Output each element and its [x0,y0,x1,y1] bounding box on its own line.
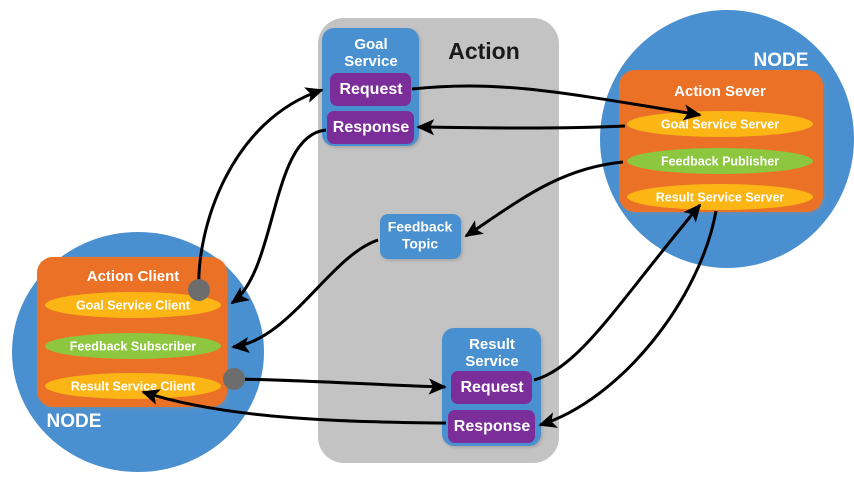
goal-response-label: Response [333,119,410,136]
client-node: Action Client Goal Service Client Feedba… [12,232,264,472]
action-container-label: Action [448,38,520,64]
client-node-label: NODE [47,411,102,432]
feedback-publisher-label: Feedback Publisher [661,154,779,168]
feedback-topic-box[interactable]: Feedback Topic [380,214,461,259]
goal-service-client-label: Goal Service Client [76,298,191,312]
result-service-server-label: Result Service Server [656,190,785,204]
ros2-action-diagram: Action Action Client Goal Service Client… [0,0,854,480]
action-server-title: Action Sever [674,83,766,100]
server-node: NODE Action Sever Goal Service Server Fe… [600,10,854,268]
result-request-label: Request [460,379,524,396]
result-service-title-line1: Result [469,336,515,353]
arrow-goal-response-from-server [418,126,625,128]
goal-service-title-line1: Goal [354,36,387,53]
goal-client-connector-dot [188,279,210,301]
arrow-goal-response-to-client [232,130,326,303]
feedback-topic-line2: Topic [402,236,439,252]
diagram-canvas: Action Action Client Goal Service Client… [0,0,854,480]
result-service-title-line2: Service [465,353,518,370]
feedback-topic-line1: Feedback [388,219,453,235]
result-client-connector-dot [223,368,245,390]
result-service-box: Result Service Request Response [442,328,541,446]
goal-service-server-label: Goal Service Server [661,117,779,131]
result-response-label: Response [454,418,531,435]
goal-service-box: Goal Service Request Response [322,28,419,146]
action-client-title: Action Client [87,268,180,285]
result-service-client-label: Result Service Client [71,379,196,393]
server-node-label: NODE [754,50,809,71]
goal-request-label: Request [339,81,403,98]
feedback-subscriber-label: Feedback Subscriber [70,339,197,353]
goal-service-title-line2: Service [344,53,397,70]
